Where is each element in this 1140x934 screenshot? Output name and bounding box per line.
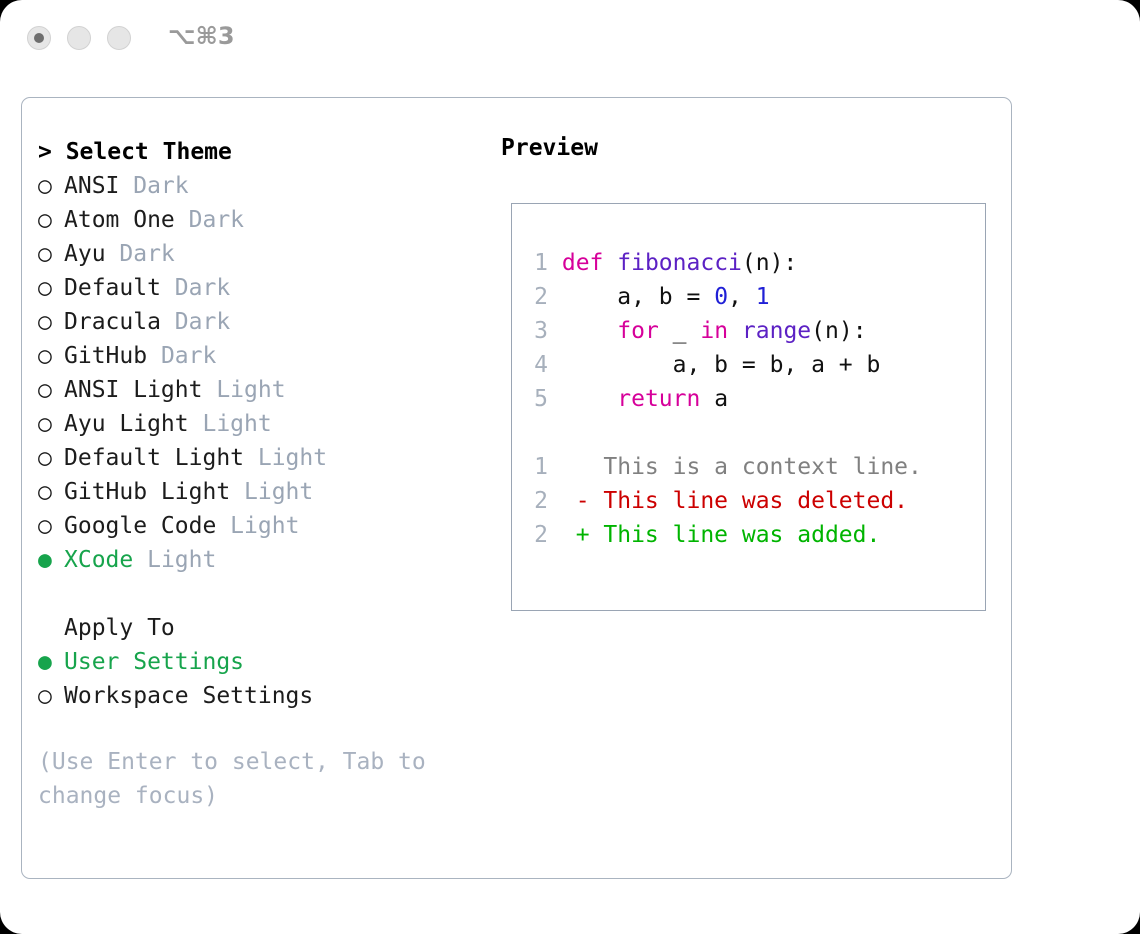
theme-variant-badge: Light [133, 547, 216, 573]
theme-name-label: Ayu [64, 241, 106, 267]
code-gutter-space [548, 386, 562, 412]
theme-option-dracula[interactable]: ○Dracula Dark [38, 305, 488, 339]
theme-option-atom-one[interactable]: ○Atom One Dark [38, 203, 488, 237]
diff-line-content: - This line was deleted. [548, 488, 908, 514]
code-preview: 1 def fibonacci(n):2 a, b = 0, 13 for _ … [526, 246, 922, 552]
code-token-kw: def [562, 250, 604, 276]
radio-unselected-icon: ○ [38, 509, 64, 543]
theme-name-label: Google Code [64, 513, 216, 539]
title-bar: ⌥⌘3 [0, 0, 1140, 78]
theme-option-google-code[interactable]: ○Google Code Light [38, 509, 488, 543]
theme-option-github[interactable]: ○GitHub Dark [38, 339, 488, 373]
window-dot-2-button[interactable] [67, 26, 91, 50]
theme-name-label: Ayu Light [64, 411, 189, 437]
apply-to-option-workspace-settings[interactable]: ○Workspace Settings [38, 679, 488, 713]
theme-list-column: > Select Theme ○ANSI Dark○Atom One Dark○… [38, 135, 488, 813]
diff-line-ctx: 1 This is a context line. [526, 450, 922, 484]
radio-unselected-icon: ○ [38, 407, 64, 441]
code-token-pun [728, 318, 742, 344]
code-token-pun: (n): [742, 250, 797, 276]
code-diff-separator [526, 416, 922, 450]
window-dot-active-button[interactable] [27, 26, 51, 50]
apply-to-option-label: User Settings [64, 649, 244, 675]
apply-to-header: Apply To [38, 611, 488, 645]
code-token-kw: in [700, 318, 728, 344]
code-token-fn: fibonacci [617, 250, 742, 276]
keyboard-hint-text: (Use Enter to select, Tab to change focu… [38, 745, 448, 813]
code-gutter-space [548, 250, 562, 276]
code-token-kw: for [617, 318, 659, 344]
theme-name-label: XCode [64, 547, 133, 573]
code-line-number: 1 [526, 246, 548, 280]
apply-to-option-user-settings[interactable]: ●User Settings [38, 645, 488, 679]
preview-title: Preview [501, 135, 598, 161]
radio-selected-icon: ● [38, 645, 64, 679]
theme-option-github-light[interactable]: ○GitHub Light Light [38, 475, 488, 509]
theme-variant-badge: Dark [106, 241, 175, 267]
code-token-pun [562, 318, 617, 344]
diff-line-number: 1 [526, 450, 548, 484]
theme-picker-panel: > Select Theme ○ANSI Dark○Atom One Dark○… [21, 97, 1012, 879]
code-line: 4 a, b = b, a + b [526, 348, 922, 382]
code-line: 3 for _ in range(n): [526, 314, 922, 348]
app-window: ⌥⌘3 > Select Theme ○ANSI Dark○Atom One D… [0, 0, 1140, 934]
theme-name-label: Default Light [64, 445, 244, 471]
diff-line-number: 2 [526, 484, 548, 518]
code-line-number: 5 [526, 382, 548, 416]
code-token-pun: , [728, 284, 756, 310]
theme-variant-badge: Dark [175, 207, 244, 233]
theme-variant-badge: Light [189, 411, 272, 437]
diff-line-add: 2 + This line was added. [526, 518, 922, 552]
code-token-var: _ [659, 318, 701, 344]
code-token-kw: return [617, 386, 700, 412]
radio-unselected-icon: ○ [38, 475, 64, 509]
code-token-pun [603, 250, 617, 276]
radio-unselected-icon: ○ [38, 271, 64, 305]
code-line: 2 a, b = 0, 1 [526, 280, 922, 314]
code-gutter-space [548, 318, 562, 344]
radio-unselected-icon: ○ [38, 373, 64, 407]
theme-name-label: Atom One [64, 207, 175, 233]
preview-box: 1 def fibonacci(n):2 a, b = 0, 13 for _ … [511, 203, 986, 611]
theme-name-label: Dracula [64, 309, 161, 335]
diff-line-del: 2 - This line was deleted. [526, 484, 922, 518]
radio-unselected-icon: ○ [38, 203, 64, 237]
theme-variant-badge: Dark [119, 173, 188, 199]
code-line-number: 3 [526, 314, 548, 348]
code-token-pun: (n): [811, 318, 866, 344]
code-gutter-space [548, 284, 562, 310]
radio-selected-icon: ● [38, 543, 64, 577]
radio-unselected-icon: ○ [38, 237, 64, 271]
code-line-number: 2 [526, 280, 548, 314]
code-token-fn: range [742, 318, 811, 344]
code-line: 1 def fibonacci(n): [526, 246, 922, 280]
radio-unselected-icon: ○ [38, 305, 64, 339]
theme-variant-badge: Light [202, 377, 285, 403]
window-dot-3-button[interactable] [107, 26, 131, 50]
theme-variant-badge: Light [216, 513, 299, 539]
keyboard-shortcut-label: ⌥⌘3 [168, 22, 235, 50]
theme-option-ayu[interactable]: ○Ayu Dark [38, 237, 488, 271]
code-gutter-space [548, 352, 562, 378]
theme-option-ansi[interactable]: ○ANSI Dark [38, 169, 488, 203]
code-token-pun: = [686, 284, 714, 310]
select-theme-header: > Select Theme [38, 135, 488, 169]
diff-line-number: 2 [526, 518, 548, 552]
radio-unselected-icon: ○ [38, 339, 64, 373]
theme-name-label: Default [64, 275, 161, 301]
radio-unselected-icon: ○ [38, 679, 64, 713]
radio-unselected-icon: ○ [38, 169, 64, 203]
theme-name-label: ANSI Light [64, 377, 202, 403]
code-token-var: a, b = b, a + b [562, 352, 881, 378]
diff-line-content: + This line was added. [548, 522, 880, 548]
theme-name-label: ANSI [64, 173, 119, 199]
theme-name-label: GitHub [64, 343, 147, 369]
theme-variant-badge: Light [230, 479, 313, 505]
theme-option-default[interactable]: ○Default Dark [38, 271, 488, 305]
theme-option-ayu-light[interactable]: ○Ayu Light Light [38, 407, 488, 441]
window-dot-active-inner [34, 33, 44, 43]
theme-option-ansi-light[interactable]: ○ANSI Light Light [38, 373, 488, 407]
theme-variant-badge: Light [244, 445, 327, 471]
diff-line-content: This is a context line. [548, 454, 922, 480]
theme-variant-badge: Dark [161, 275, 230, 301]
theme-variant-badge: Dark [161, 309, 230, 335]
code-token-var: a [700, 386, 728, 412]
apply-to-option-label: Workspace Settings [64, 683, 313, 709]
apply-to-options: ●User Settings○Workspace Settings [38, 645, 488, 713]
theme-option-default-light[interactable]: ○Default Light Light [38, 441, 488, 475]
theme-name-label: GitHub Light [64, 479, 230, 505]
apply-to-section: Apply To ●User Settings○Workspace Settin… [38, 611, 488, 713]
code-token-num: 1 [756, 284, 770, 310]
code-line-number: 4 [526, 348, 548, 382]
radio-unselected-icon: ○ [38, 441, 64, 475]
apply-to-header-indent [38, 611, 64, 645]
theme-list: ○ANSI Dark○Atom One Dark○Ayu Dark○Defaul… [38, 169, 488, 577]
code-token-var: a, b [562, 284, 687, 310]
code-token-pun [562, 386, 617, 412]
code-line: 5 return a [526, 382, 922, 416]
code-token-num: 0 [714, 284, 728, 310]
apply-to-header-label: Apply To [64, 615, 175, 641]
theme-variant-badge: Dark [147, 343, 216, 369]
theme-option-xcode[interactable]: ●XCode Light [38, 543, 488, 577]
